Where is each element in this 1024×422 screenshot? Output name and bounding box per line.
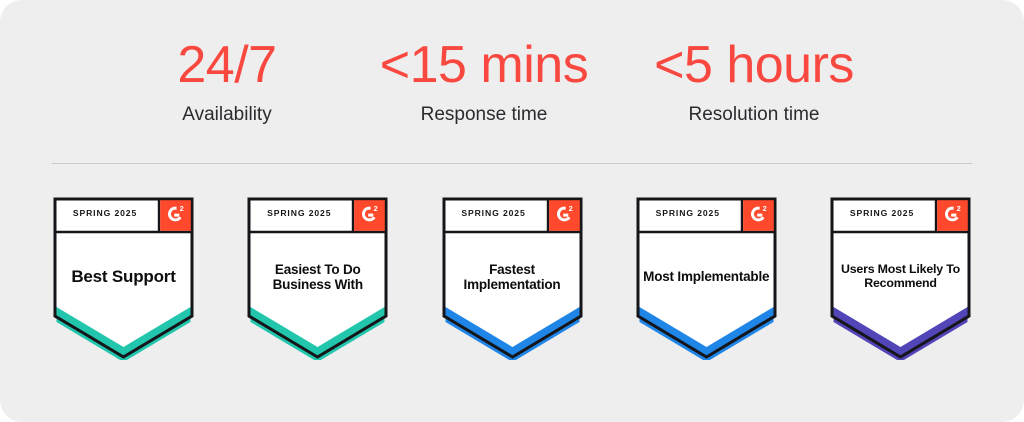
g2-badge[interactable]: SPRING 2025Users Most Likely To Recommen… [829,196,972,360]
badge-shape [829,196,972,360]
stat-availability: 24/7 Availability [108,34,346,127]
stat-value: 24/7 [108,34,346,96]
stats-and-badges-panel: 24/7 Availability <15 mins Response time… [0,0,1024,422]
badge-shape [441,196,584,360]
badge-shape [635,196,778,360]
g2-badges-row: SPRING 2025Best Support2SPRING 2025Easie… [52,196,972,376]
g2-badge[interactable]: SPRING 2025Easiest To Do Business With2 [246,196,389,360]
stat-label: Resolution time [630,103,878,127]
g2-badge[interactable]: SPRING 2025Best Support2 [52,196,195,360]
badge-shape [246,196,389,360]
section-divider [52,163,972,164]
stat-response-time: <15 mins Response time [360,34,608,127]
stat-label: Availability [108,103,346,127]
g2-badge[interactable]: SPRING 2025Fastest Implementation2 [441,196,584,360]
stat-resolution-time: <5 hours Resolution time [630,34,878,127]
stats-row: 24/7 Availability <15 mins Response time… [52,34,972,142]
g2-badge[interactable]: SPRING 2025Most Implementable2 [635,196,778,360]
stat-value: <15 mins [360,34,608,96]
stat-value: <5 hours [630,34,878,96]
badge-shape [52,196,195,360]
stat-label: Response time [360,103,608,127]
